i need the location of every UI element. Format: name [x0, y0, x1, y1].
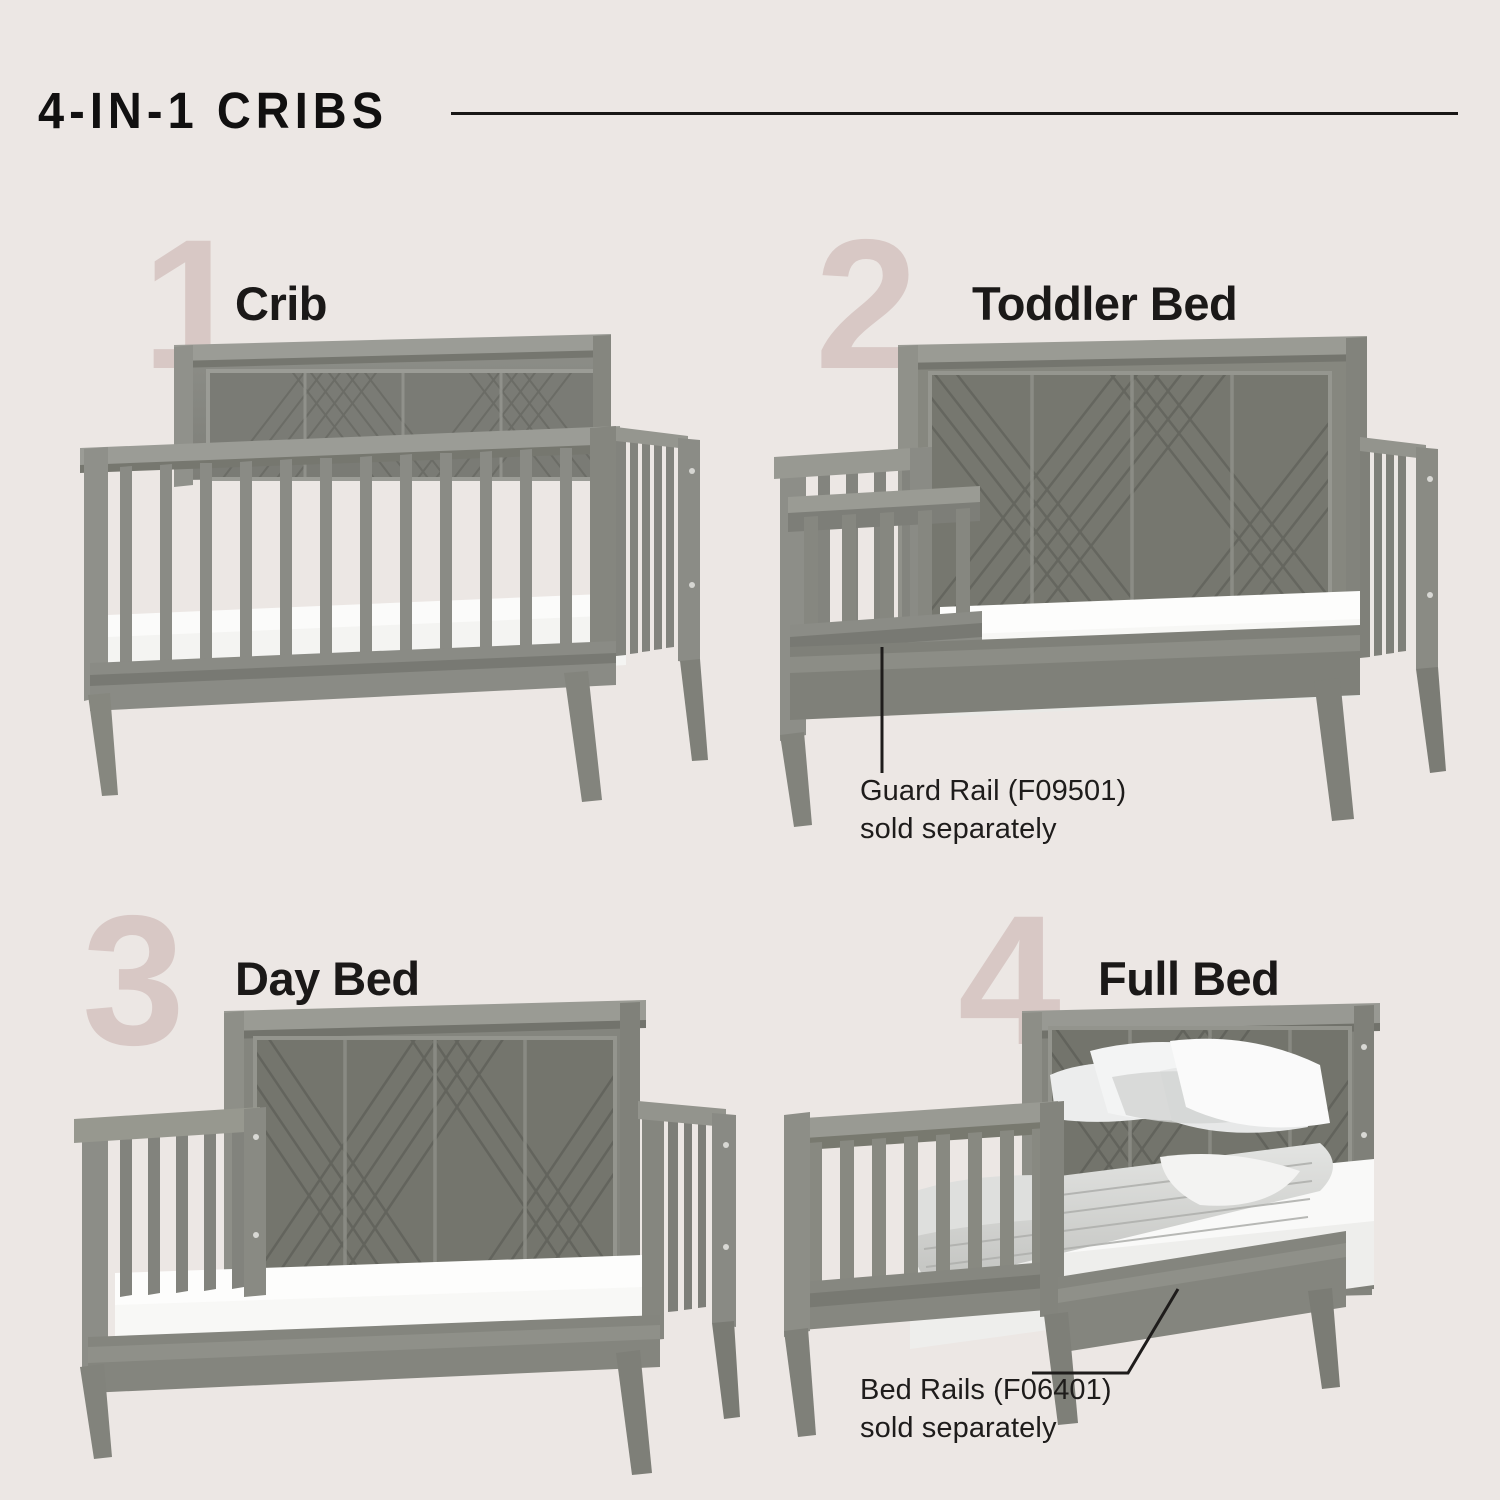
header: 4-IN-1 CRIBS: [38, 78, 1458, 142]
callout-guard-rail: Guard Rail (F09501) sold separately: [860, 773, 1126, 848]
day-bed-illustration: [60, 875, 750, 1485]
infographic-page: 4-IN-1 CRIBS 1 Crib: [0, 0, 1500, 1500]
step-panel-day-bed: 3 Day Bed: [60, 875, 750, 1485]
callout-bed-rails: Bed Rails (F06401) sold separately: [860, 1372, 1112, 1447]
page-title: 4-IN-1 CRIBS: [38, 81, 388, 140]
header-rule: [451, 112, 1458, 115]
step-panel-crib: 1 Crib: [60, 195, 750, 845]
crib-illustration: [60, 195, 750, 845]
pillows: [1050, 1039, 1330, 1133]
